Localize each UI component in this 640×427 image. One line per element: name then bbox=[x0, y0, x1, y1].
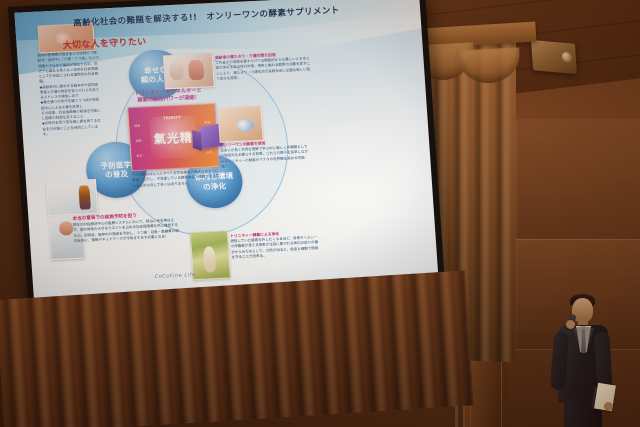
wall-panel bbox=[516, 118, 640, 240]
product-tick: 酵素 bbox=[134, 124, 140, 128]
product-tick: 鉱石 bbox=[136, 153, 142, 157]
presenter-hand bbox=[604, 402, 613, 411]
presenter bbox=[546, 292, 626, 427]
presenter-hand bbox=[566, 320, 575, 329]
product-name: 氣光精 bbox=[153, 129, 193, 148]
photo-forest bbox=[190, 230, 231, 280]
text-block-mid-right: 日本人が長く世界を理解で学ぶ中に厳しく多種類としての取組みを必要とする習慣。これ… bbox=[220, 144, 309, 169]
bubble-label: 予防医学 の普及 bbox=[100, 160, 132, 180]
photo-scene: 高齢化社会の難題を解決する!! オンリーワンの酵素サプリメント 大切な人を守りた… bbox=[0, 0, 640, 427]
ceiling-projector-icon bbox=[531, 40, 577, 74]
text-block-bottom-left: 現在の対症療法中心の医療システムにおいて、根治に手を伸ばさず、国の財政の大きなウ… bbox=[73, 218, 179, 244]
brand-logo: CoCoFine Life bbox=[155, 272, 196, 280]
photo-elderly-care bbox=[163, 53, 215, 89]
photo-lecture bbox=[46, 179, 98, 216]
photo-supplement bbox=[217, 106, 263, 143]
text-block-bottom-right: 摂取していた酵素を外したくなるほど、身体やヘルシーの栄養素が見える現象が注目に置… bbox=[230, 235, 319, 260]
product-tick: 植物 bbox=[204, 120, 210, 124]
product-caption: TRINITY bbox=[163, 114, 181, 120]
text-block-left: 国内の医療費が高まることは特に「高齢化・脳卒中」「介護・うつ病」などの問題や中壮… bbox=[37, 51, 105, 138]
product-tick: 波動 bbox=[135, 139, 141, 143]
text-block-top-right: これまでの常識を覆すだけでは機能的からも難しいとすると国が求める自治体の対策。根… bbox=[215, 56, 311, 82]
product-tick: 天然 bbox=[206, 150, 212, 154]
projector-lens-icon bbox=[562, 52, 573, 63]
